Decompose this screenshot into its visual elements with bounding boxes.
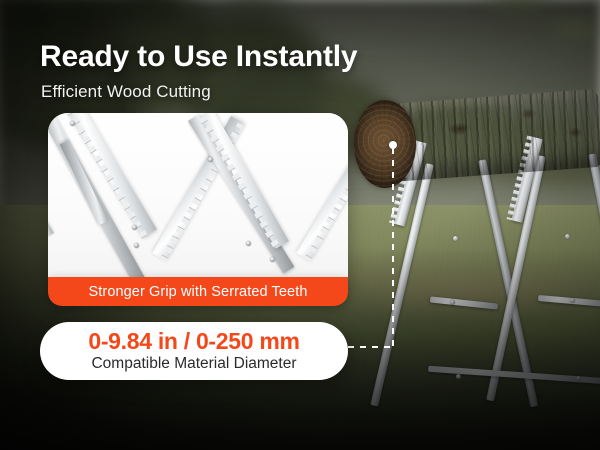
measure-line-horizontal xyxy=(348,346,394,348)
product-marketing-banner: Stronger Grip with Serrated Teeth 0-9.84… xyxy=(0,0,600,450)
log-bark-texture xyxy=(387,88,600,181)
spec-card: 0-9.84 in / 0-250 mm Compatible Material… xyxy=(40,322,348,380)
log-body xyxy=(387,88,600,181)
page-title: Ready to Use Instantly xyxy=(40,40,357,74)
measure-line-vertical xyxy=(392,148,394,347)
log-radial-cracks xyxy=(354,100,416,188)
page-subtitle: Efficient Wood Cutting xyxy=(41,82,211,102)
feature-banner-text: Stronger Grip with Serrated Teeth xyxy=(88,284,307,300)
feature-banner: Stronger Grip with Serrated Teeth xyxy=(48,277,348,306)
detail-inset-panel xyxy=(48,113,348,277)
log-material xyxy=(352,100,600,205)
rivet-icon xyxy=(70,121,75,126)
log-cut-end xyxy=(354,100,416,188)
rivet-icon xyxy=(132,225,137,230)
spec-value: 0-9.84 in / 0-250 mm xyxy=(88,329,299,353)
rivet-icon xyxy=(246,241,251,246)
rivet-icon xyxy=(270,257,275,262)
rivet-icon xyxy=(134,243,139,248)
rivet-icon xyxy=(208,157,213,162)
spec-label: Compatible Material Diameter xyxy=(91,354,296,373)
